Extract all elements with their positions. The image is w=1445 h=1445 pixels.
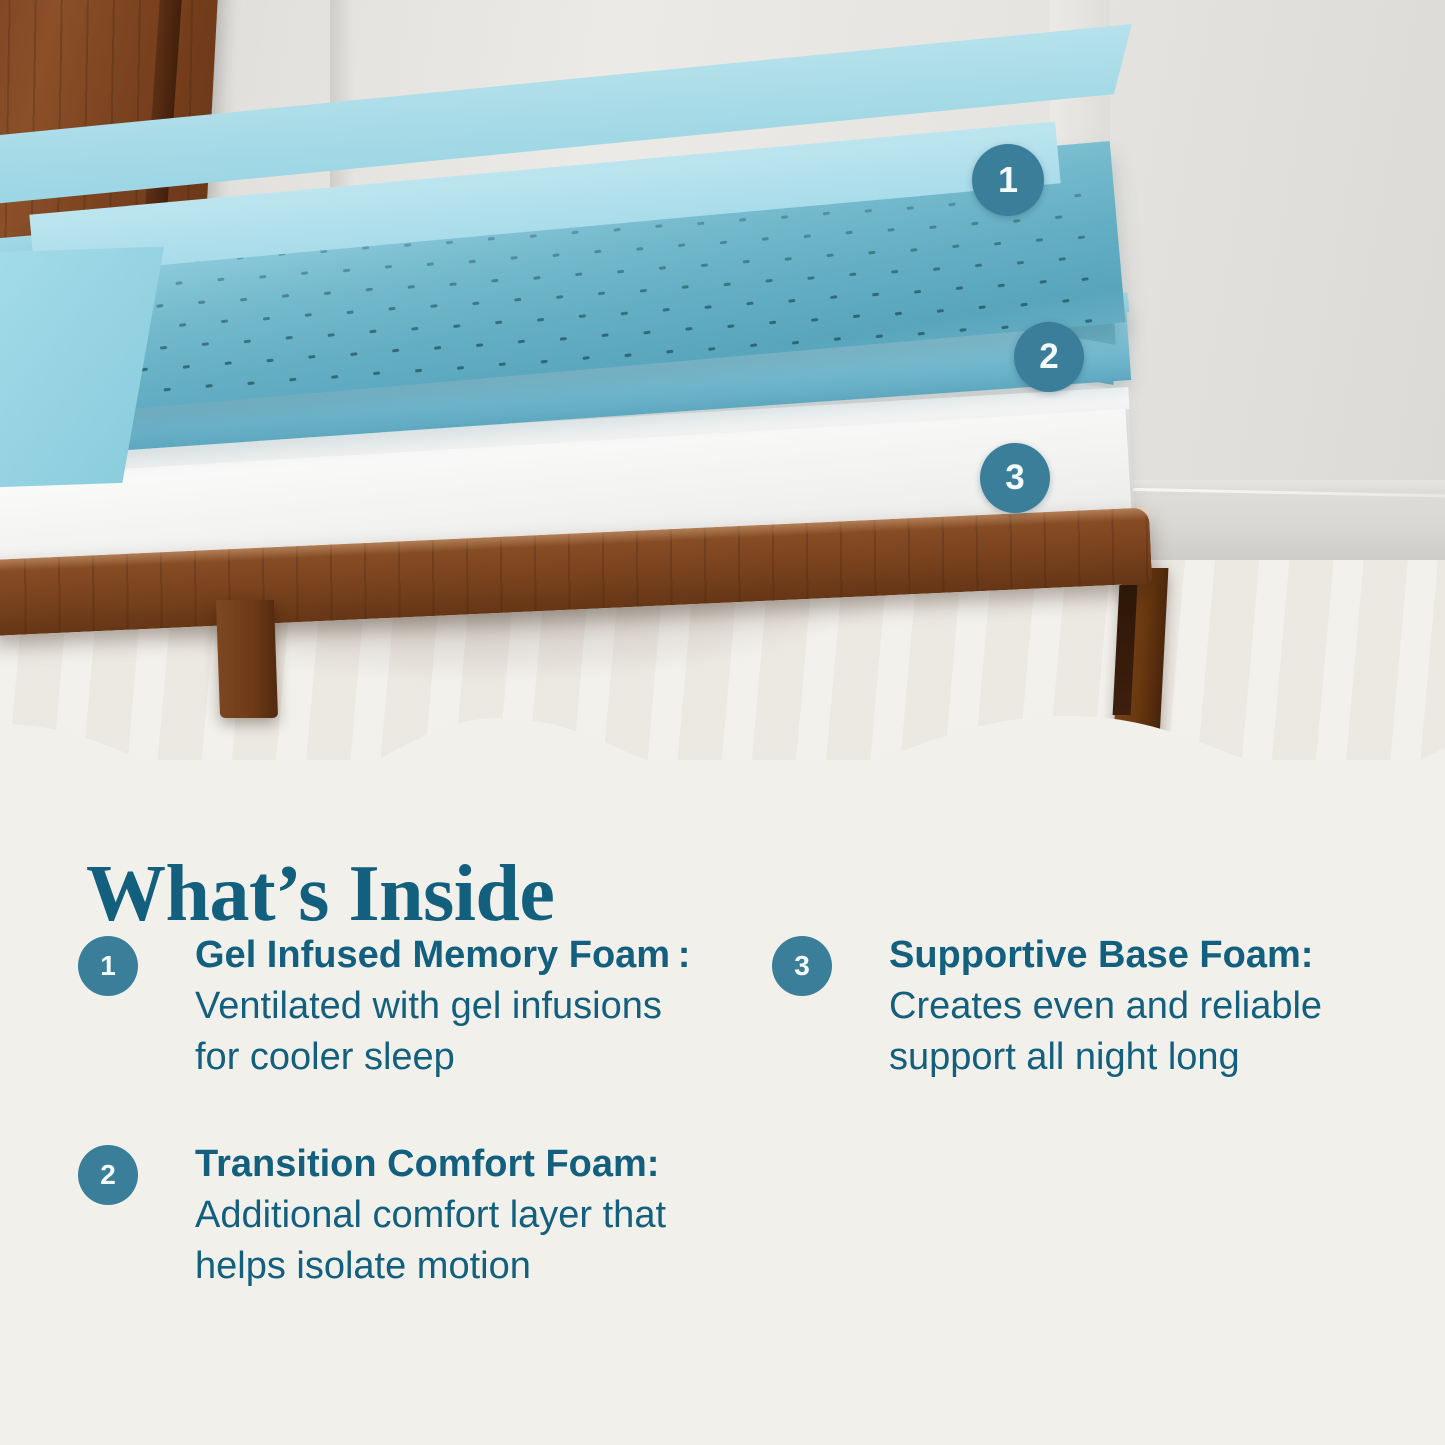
ventilation-hole (910, 248, 917, 252)
ventilation-hole (598, 292, 605, 296)
ventilation-hole (701, 263, 708, 267)
ventilation-hole (541, 359, 548, 363)
ventilation-hole (385, 265, 392, 269)
ventilation-hole (369, 330, 376, 334)
ventilation-hole (617, 269, 624, 273)
ventilation-hole (682, 285, 689, 289)
ventilation-hole (846, 231, 853, 235)
ventilation-hole (975, 264, 982, 268)
ventilation-hole (221, 320, 228, 324)
ventilation-hole (244, 339, 251, 343)
ventilation-hole (739, 218, 746, 222)
ventilation-hole (1081, 277, 1088, 281)
photo-callout-1[interactable]: 1 (972, 144, 1044, 216)
page-title: What’s Inside (86, 854, 554, 934)
ventilation-hole (826, 254, 833, 258)
ventilation-hole (202, 342, 209, 346)
ventilation-hole (743, 260, 750, 264)
ventilation-hole (746, 302, 753, 306)
ventilation-hole (708, 347, 715, 351)
ventilation-hole (449, 282, 456, 286)
ventilation-hole (499, 362, 506, 366)
ventilation-hole (537, 317, 544, 321)
ventilation-hole (750, 344, 757, 348)
ventilation-hole (476, 343, 483, 347)
ventilation-hole (952, 244, 959, 248)
ventilation-hole (571, 231, 578, 235)
ventilation-hole (324, 291, 331, 295)
feature-badge-2: 2 (78, 1145, 138, 1205)
ventilation-hole (1074, 193, 1081, 197)
ventilation-hole (891, 270, 898, 274)
ventilation-hole (263, 316, 270, 320)
ventilation-hole (301, 271, 308, 275)
ventilation-hole (933, 267, 940, 271)
ventilation-hole (362, 246, 369, 250)
ventilation-hole (1062, 299, 1069, 303)
ventilation-hole (1017, 260, 1024, 264)
ventilation-hole (514, 298, 521, 302)
ventilation-hole (175, 281, 182, 285)
ventilation-hole (347, 310, 354, 314)
ventilation-hole (575, 272, 582, 276)
ventilation-hole (601, 333, 608, 337)
feature-description-3: Creates even and reliable support all ni… (889, 985, 1322, 1078)
ventilation-hole (282, 294, 289, 298)
ventilation-hole (865, 209, 872, 213)
ventilation-hole (663, 308, 670, 312)
ventilation-hole (286, 336, 293, 340)
ventilation-hole (929, 225, 936, 229)
ventilation-hole (624, 353, 631, 357)
feature-description-1: Ventilated with gel infusions for cooler… (195, 985, 662, 1078)
ventilation-hole (876, 334, 883, 338)
ventilation-hole (823, 212, 830, 216)
feature-item-2: 2 Transition Comfort Foam: Additional co… (78, 1139, 698, 1292)
feature-text-3: Supportive Base Foam: Creates even and r… (889, 930, 1389, 1083)
ventilation-hole (289, 378, 296, 382)
ventilation-hole (1020, 302, 1027, 306)
ventilation-hole (765, 279, 772, 283)
ventilation-hole (868, 251, 875, 255)
infographic-page: 1 2 3 What’s Inside 1 Gel Infused Memory… (0, 0, 1445, 1445)
feature-title-1: Gel Infused Memory Foam : (195, 934, 690, 976)
ventilation-hole (834, 337, 841, 341)
ventilation-hole (205, 384, 212, 388)
ventilation-hole (411, 327, 418, 331)
ventilation-hole (217, 278, 224, 282)
ventilation-hole (1013, 219, 1020, 223)
ventilation-hole (594, 250, 601, 254)
ventilation-hole (488, 237, 495, 241)
ventilation-hole (343, 268, 350, 272)
ventilation-hole (510, 256, 517, 260)
ventilation-hole (457, 365, 464, 369)
ventilation-hole (937, 308, 944, 312)
ventilation-hole (518, 340, 525, 344)
ventilation-hole (948, 203, 955, 207)
ventilation-hole (552, 253, 559, 257)
ventilation-hole (659, 266, 666, 270)
ventilation-hole (331, 375, 338, 379)
feature-title-3: Supportive Base Foam: (889, 934, 1313, 976)
feature-description-2: Additional comfort layer that helps isol… (195, 1194, 666, 1287)
ventilation-hole (164, 387, 171, 391)
ventilation-hole (160, 345, 167, 349)
ventilation-hole (225, 361, 232, 365)
ventilation-hole (366, 288, 373, 292)
ventilation-hole (179, 323, 186, 327)
ventilation-hole (308, 355, 315, 359)
ventilation-hole (350, 352, 357, 356)
ventilation-hole (697, 221, 704, 225)
ventilation-hole (183, 365, 190, 369)
features-column-right: 3 Supportive Base Foam: Creates even and… (772, 930, 1392, 1139)
ventilation-hole (1085, 319, 1092, 323)
ventilation-hole (792, 341, 799, 345)
feature-item-1: 1 Gel Infused Memory Foam : Ventilated w… (78, 930, 698, 1083)
ventilation-hole (727, 324, 734, 328)
ventilation-hole (655, 224, 662, 228)
ventilation-hole (971, 222, 978, 226)
photo-callout-2[interactable]: 2 (1014, 322, 1084, 392)
ventilation-hole (266, 358, 273, 362)
ventilation-hole (1040, 280, 1047, 284)
feature-item-3: 3 Supportive Base Foam: Creates even and… (772, 930, 1392, 1083)
ventilation-hole (666, 350, 673, 354)
ventilation-hole (762, 237, 769, 241)
ventilation-hole (453, 324, 460, 328)
ventilation-hole (978, 305, 985, 309)
ventilation-hole (678, 243, 685, 247)
ventilation-hole (907, 206, 914, 210)
ventilation-hole (560, 336, 567, 340)
content-section: What’s Inside 1 Gel Infused Memory Foam … (0, 760, 1445, 1445)
ventilation-hole (769, 321, 776, 325)
ventilation-hole (872, 293, 879, 297)
ventilation-hole (914, 289, 921, 293)
ventilation-hole (533, 276, 540, 280)
ventilation-hole (811, 318, 818, 322)
ventilation-hole (327, 333, 334, 337)
ventilation-hole (895, 312, 902, 316)
features-column-left: 1 Gel Infused Memory Foam : Ventilated w… (78, 930, 698, 1347)
ventilation-hole (621, 311, 628, 315)
ventilation-hole (1078, 235, 1085, 239)
ventilation-hole (613, 227, 620, 231)
ventilation-hole (1059, 257, 1066, 261)
ventilation-hole (704, 305, 711, 309)
ventilation-hole (495, 321, 502, 325)
ventilation-hole (305, 313, 312, 317)
ventilation-hole (849, 273, 856, 277)
ventilation-hole (156, 304, 163, 308)
ventilation-hole (582, 356, 589, 360)
ventilation-hole (1055, 215, 1062, 219)
photo-callout-3[interactable]: 3 (980, 443, 1050, 513)
ventilation-hole (804, 234, 811, 238)
ventilation-hole (640, 288, 647, 292)
feature-text-1: Gel Infused Memory Foam : Ventilated wit… (195, 930, 695, 1083)
feature-text-2: Transition Comfort Foam: Additional comf… (195, 1139, 695, 1292)
ventilation-hole (956, 286, 963, 290)
ventilation-hole (1036, 238, 1043, 242)
ventilation-hole (469, 259, 476, 263)
ventilation-hole (408, 285, 415, 289)
ventilation-hole (959, 328, 966, 332)
ventilation-hole (994, 241, 1001, 245)
feature-badge-1: 1 (78, 936, 138, 996)
ventilation-hole (724, 282, 731, 286)
ventilation-hole (720, 240, 727, 244)
ventilation-hole (373, 372, 380, 376)
ventilation-hole (998, 283, 1005, 287)
ventilation-hole (887, 228, 894, 232)
ventilation-hole (240, 297, 247, 301)
ventilation-hole (259, 275, 266, 279)
ventilation-hole (830, 296, 837, 300)
ventilation-hole (472, 301, 479, 305)
ventilation-hole (491, 279, 498, 283)
ventilation-hole (434, 346, 441, 350)
feature-badge-3: 3 (772, 936, 832, 996)
ventilation-hole (247, 381, 254, 385)
ventilation-hole (643, 330, 650, 334)
ventilation-hole (781, 215, 788, 219)
ventilation-hole (427, 262, 434, 266)
ventilation-hole (446, 240, 453, 244)
ventilation-hole (788, 299, 795, 303)
ventilation-hole (392, 349, 399, 353)
ventilation-hole (388, 307, 395, 311)
ventilation-hole (198, 300, 205, 304)
ventilation-hole (579, 314, 586, 318)
ventilation-hole (853, 315, 860, 319)
ventilation-hole (404, 243, 411, 247)
ventilation-hole (636, 247, 643, 251)
ventilation-hole (556, 295, 563, 299)
ventilation-hole (918, 331, 925, 335)
ventilation-hole (785, 257, 792, 261)
ventilation-hole (415, 369, 422, 373)
ventilation-hole (430, 304, 437, 308)
ventilation-hole (807, 276, 814, 280)
ventilation-hole (1001, 325, 1008, 329)
product-photo: 1 2 3 (0, 0, 1445, 790)
ventilation-hole (685, 327, 692, 331)
ventilation-hole (530, 234, 537, 238)
feature-title-2: Transition Comfort Foam: (195, 1143, 659, 1185)
